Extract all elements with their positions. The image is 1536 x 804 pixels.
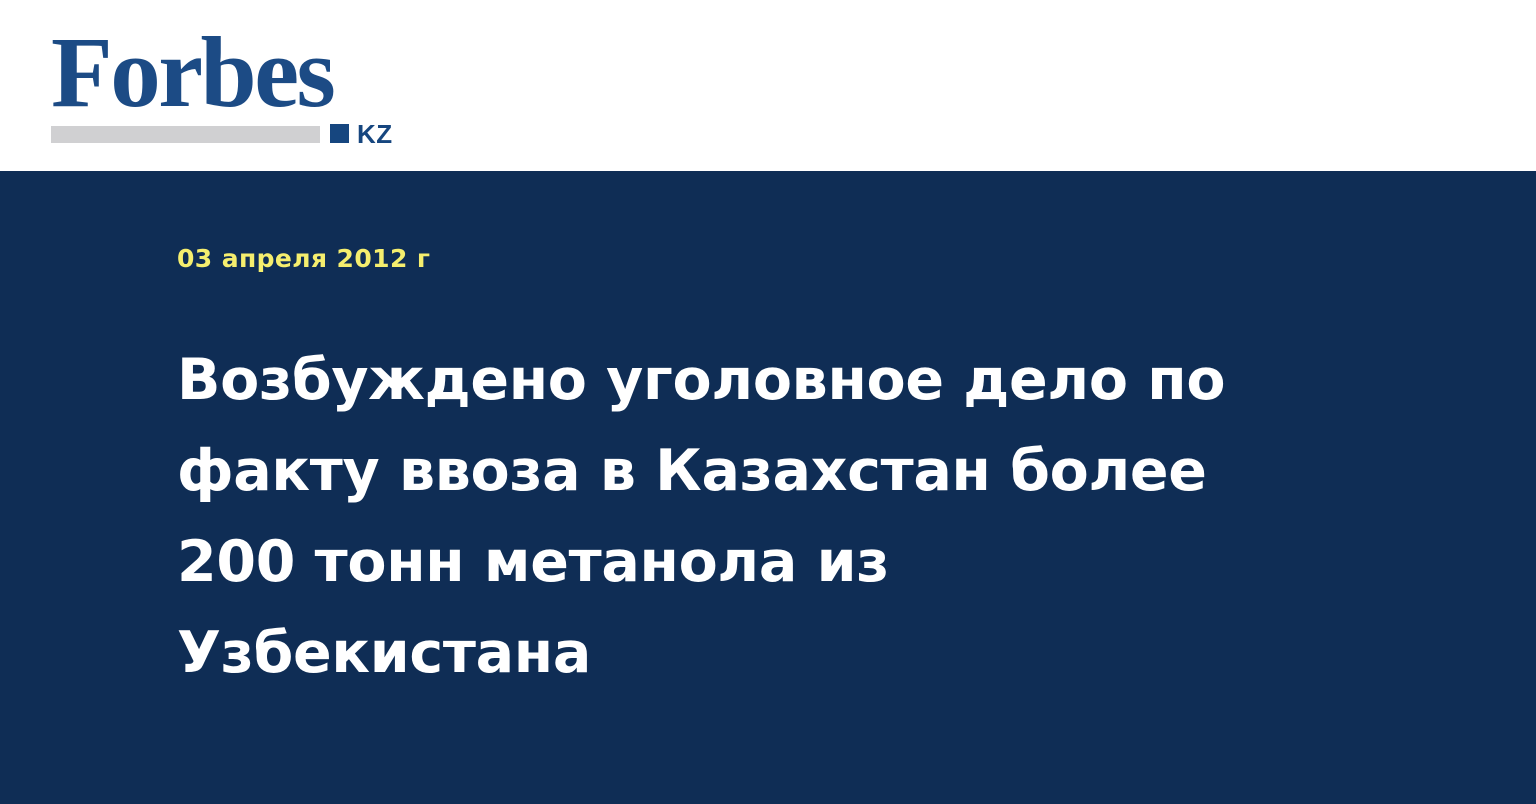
article-hero-banner: 03 апреля 2012 г Возбуждено уголовное де… xyxy=(0,171,1536,804)
forbes-wordmark: Forbes xyxy=(51,22,333,123)
brand-underline-rule xyxy=(51,126,320,143)
article-hero-page: Forbes KZ 03 апреля 2012 г Возбуждено уг… xyxy=(0,0,1536,804)
brand-kz-label: KZ xyxy=(357,121,393,147)
article-publish-date: 03 апреля 2012 г xyxy=(177,244,430,274)
forbes-kz-logo[interactable]: Forbes KZ xyxy=(51,22,411,146)
article-headline: Возбуждено уголовное дело по факту ввоза… xyxy=(177,335,1312,699)
navy-square-icon xyxy=(330,124,349,143)
site-header: Forbes KZ xyxy=(0,0,1536,171)
